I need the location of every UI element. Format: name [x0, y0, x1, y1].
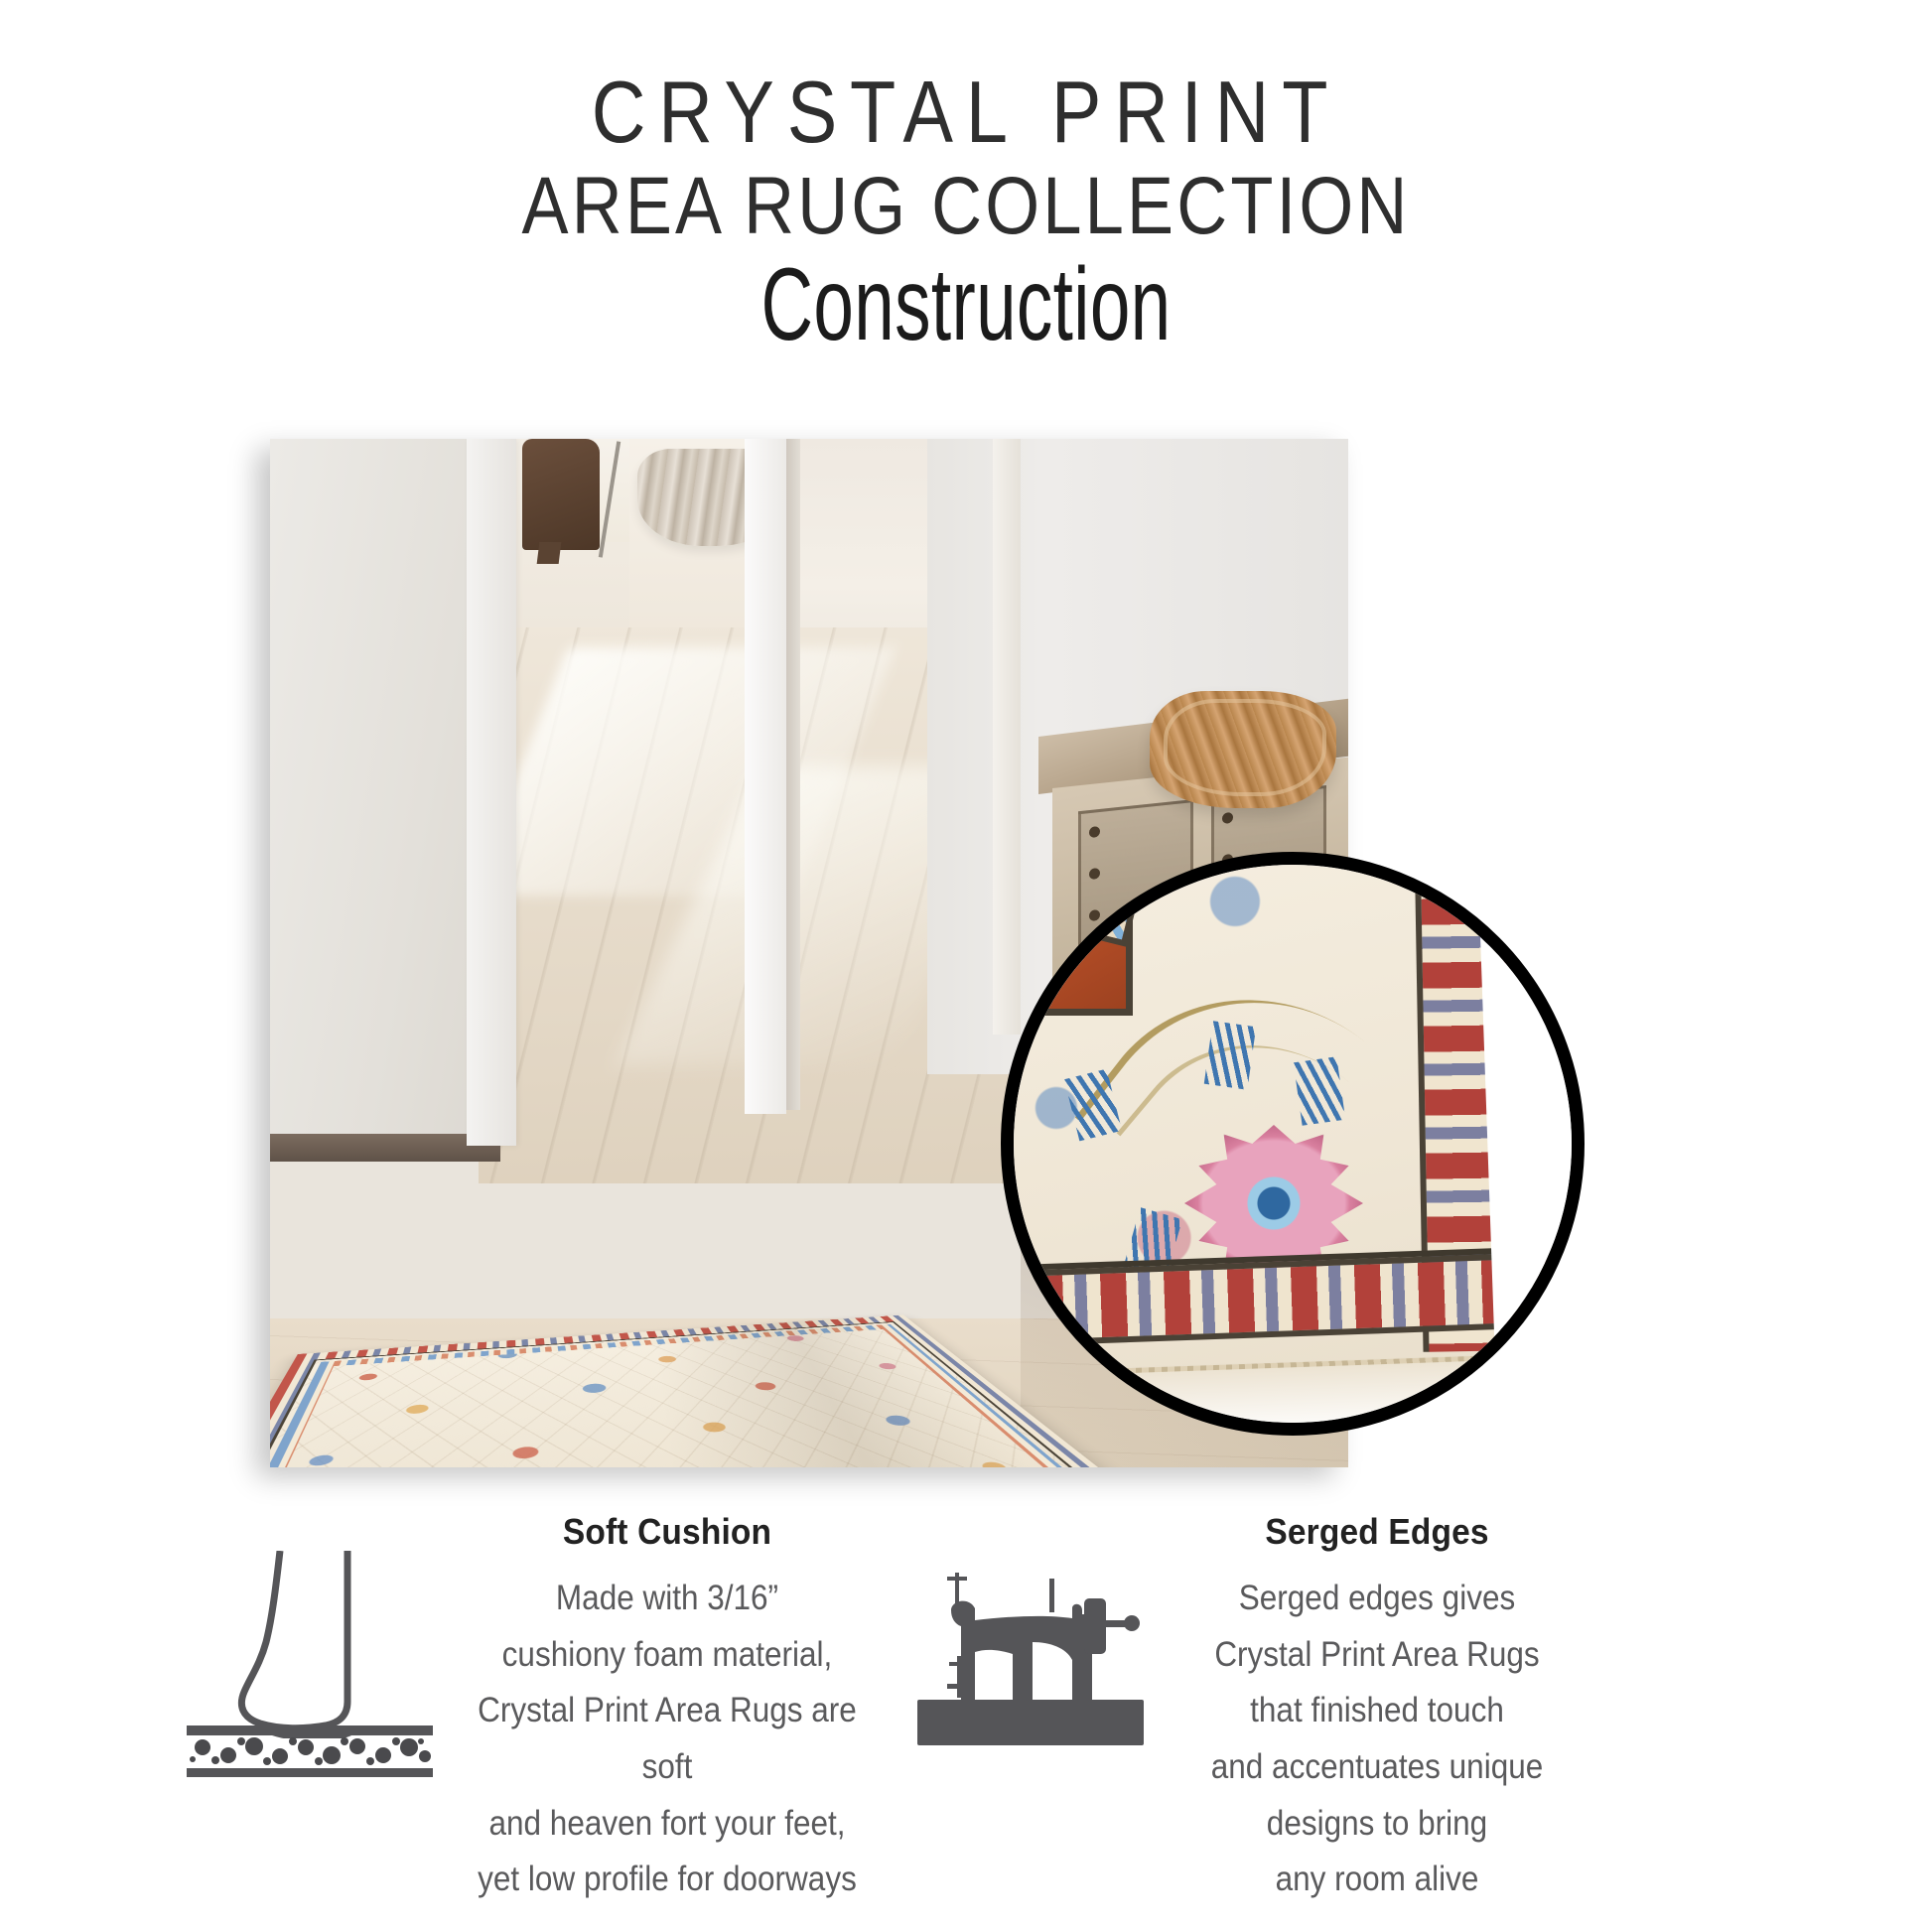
- zoom-detail-circle: [1001, 852, 1585, 1436]
- zoom-detail-content: [1014, 865, 1572, 1423]
- feature-body-line: soft: [464, 1739, 871, 1796]
- feature-body: Made with 3/16” cushiony foam material, …: [464, 1571, 871, 1908]
- feature-body-line: Made with 3/16”: [464, 1571, 871, 1627]
- feature-body-line: any room alive: [1168, 1852, 1587, 1908]
- page-header: CRYSTAL PRINT AREA RUG COLLECTION: [0, 68, 1932, 247]
- armchair: [522, 439, 600, 550]
- left-wall: [270, 439, 493, 1154]
- page-title-line-1: CRYSTAL PRINT: [135, 68, 1797, 157]
- console-stud: [1222, 812, 1233, 824]
- feature-title: Soft Cushion: [457, 1511, 878, 1553]
- door-reveal: [786, 439, 800, 1110]
- feature-serged-edges: Serged Edges Serged edges gives Crystal …: [894, 1507, 1886, 1908]
- door-jamb-near: [467, 439, 516, 1146]
- feature-soft-cushion-text: Soft Cushion Made with 3/16” cushiony fo…: [441, 1507, 894, 1908]
- feature-title: Serged Edges: [1160, 1511, 1593, 1553]
- feature-body: Serged edges gives Crystal Print Area Ru…: [1168, 1571, 1587, 1908]
- foot-on-cushion-icon: [177, 1551, 441, 1784]
- console-stud: [1089, 826, 1100, 838]
- door-jamb-far: [745, 439, 786, 1114]
- feature-body-line: Crystal Print Area Rugs are: [464, 1683, 871, 1739]
- page-title-line-2: AREA RUG COLLECTION: [135, 165, 1797, 248]
- feature-body-line: cushiony foam material,: [464, 1627, 871, 1684]
- feature-soft-cushion: Soft Cushion Made with 3/16” cushiony fo…: [0, 1507, 894, 1908]
- feature-body-line: yet low profile for doorways: [464, 1852, 871, 1908]
- feature-body-line: Crystal Print Area Rugs: [1168, 1627, 1587, 1684]
- feature-body-line: Serged edges gives: [1168, 1571, 1587, 1627]
- feature-serged-edges-text: Serged Edges Serged edges gives Crystal …: [1144, 1507, 1610, 1908]
- feature-body-line: and accentuates unique: [1168, 1739, 1587, 1796]
- feature-body-line: designs to bring: [1168, 1796, 1587, 1853]
- ruffled-textile-decor: [1150, 691, 1336, 808]
- feature-body-line: and heaven fort your feet,: [464, 1796, 871, 1853]
- feature-body-line: that finished touch: [1168, 1683, 1587, 1739]
- zoom-leaf-motif: [1294, 1056, 1345, 1126]
- zoom-corner-motif: [1001, 852, 1133, 1016]
- page-subtitle: Construction: [290, 246, 1642, 364]
- features-section: Soft Cushion Made with 3/16” cushiony fo…: [0, 1507, 1932, 1908]
- sewing-machine-icon: [917, 1565, 1144, 1774]
- infographic-page: CRYSTAL PRINT AREA RUG COLLECTION Constr…: [0, 0, 1932, 1932]
- zoom-leaf-motif: [1204, 1021, 1256, 1090]
- armchair-leg: [537, 542, 562, 564]
